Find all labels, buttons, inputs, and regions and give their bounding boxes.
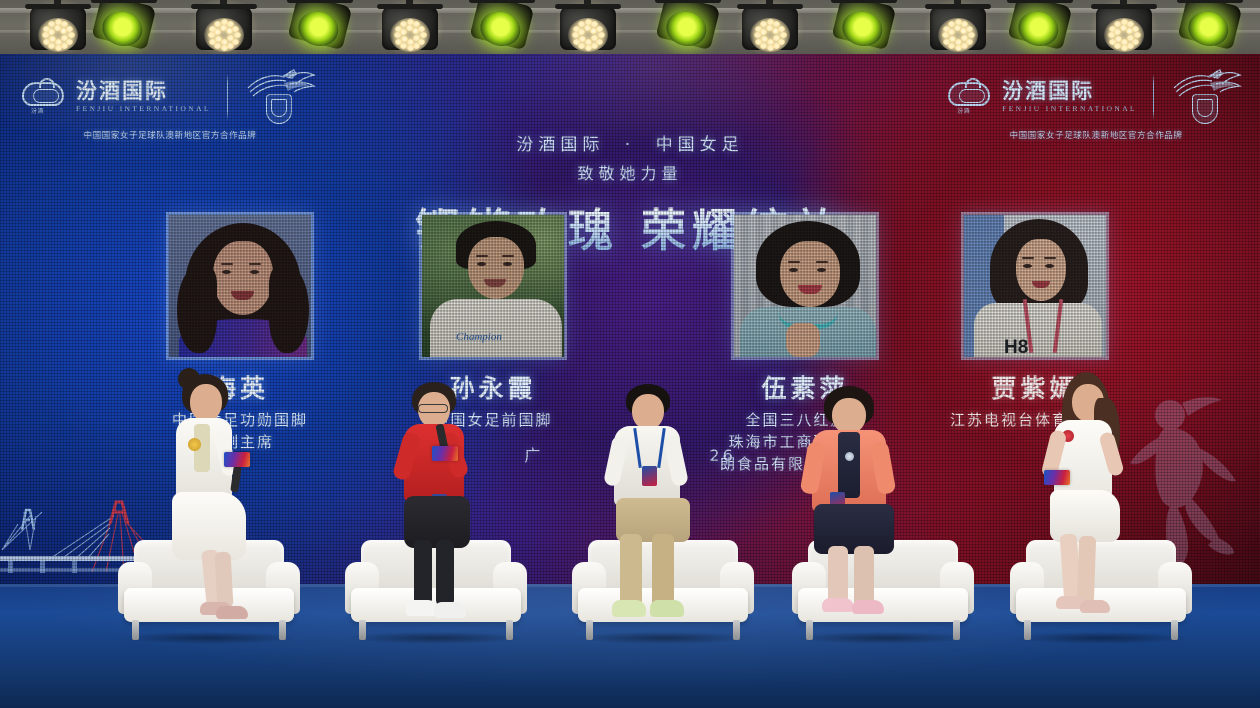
light-lens <box>99 7 146 50</box>
fenjiu-cloud-icon: 汾酒 <box>22 80 64 114</box>
light-stem <box>584 0 591 5</box>
light-yoke <box>469 0 535 3</box>
light-lens <box>839 7 886 50</box>
light-lens <box>390 18 430 52</box>
led-emitter <box>585 45 592 51</box>
event-kicker-line2: 致敬她力量 <box>0 160 1260 184</box>
brand-divider <box>227 74 228 120</box>
light-housing <box>560 6 616 50</box>
led-emitter <box>68 32 75 38</box>
honoree-photo-1 <box>166 212 314 360</box>
brand-name-en: FENJIU INTERNATIONAL <box>1002 105 1137 113</box>
led-emitter <box>227 35 234 41</box>
led-emitter <box>227 43 234 49</box>
fenjiu-cloud-icon: 汾酒 <box>948 80 990 114</box>
panelist-3 <box>600 384 730 644</box>
light-lens <box>938 18 978 52</box>
light-housing <box>930 6 986 50</box>
light-yoke <box>1007 0 1073 3</box>
led-emitter <box>61 43 68 49</box>
led-emitter <box>772 28 779 34</box>
light-yoke <box>655 0 721 3</box>
led-emitter <box>960 28 967 34</box>
light-stem <box>1120 0 1127 5</box>
led-emitter <box>773 35 780 41</box>
ceiling-truss <box>0 0 1260 56</box>
led-emitter <box>948 43 955 49</box>
truss-bar <box>0 8 1260 13</box>
led-emitter <box>773 43 780 49</box>
led-emitter <box>1134 32 1141 38</box>
honoree-photo-3 <box>731 212 879 360</box>
led-emitter <box>226 28 233 34</box>
led-emitter <box>767 45 774 51</box>
led-emitter <box>420 32 427 38</box>
led-emitter <box>1114 43 1121 49</box>
brand-name-cn: 汾酒国际 <box>1002 81 1137 102</box>
light-housing <box>470 0 535 50</box>
led-emitter <box>60 28 67 34</box>
led-emitter <box>1127 35 1134 41</box>
light-housing <box>832 0 897 50</box>
led-emitter <box>407 45 414 51</box>
light-yoke <box>831 0 897 3</box>
light-stem <box>954 0 961 5</box>
led-emitter <box>214 29 221 35</box>
light-lens <box>204 18 244 52</box>
led-emitter <box>61 35 68 41</box>
led-emitter <box>578 43 585 49</box>
light-lens <box>38 18 78 52</box>
light-yoke <box>91 0 157 3</box>
led-emitter <box>221 45 228 51</box>
light-housing <box>382 6 438 50</box>
light-yoke <box>287 0 353 3</box>
event-kicker-line1: 汾酒国际 · 中国女足 <box>0 130 1260 155</box>
truss-bar <box>0 30 1260 33</box>
eyeglasses-icon <box>418 404 448 413</box>
footer-text-left: 广 <box>524 446 543 465</box>
light-lens <box>750 18 790 52</box>
badge-card-3 <box>642 466 657 486</box>
light-stem <box>406 0 413 5</box>
light-housing <box>1008 0 1073 50</box>
light-lens <box>1104 18 1144 52</box>
light-housing <box>288 0 353 50</box>
led-emitter <box>961 35 968 41</box>
brand-name-en: FENJIU INTERNATIONAL <box>76 105 211 113</box>
light-lens <box>295 7 342 50</box>
brand-divider <box>1153 74 1154 120</box>
led-emitter <box>1126 28 1133 34</box>
light-housing <box>1096 6 1152 50</box>
light-stem <box>766 0 773 5</box>
microphone-flag-5 <box>1044 470 1070 485</box>
panelist-2 <box>390 382 510 644</box>
light-stem <box>54 0 61 5</box>
led-emitter <box>591 35 598 41</box>
led-emitter <box>760 43 767 49</box>
led-emitter <box>968 32 975 38</box>
fenjiu-mark-label: 汾酒 <box>31 106 44 115</box>
fenjiu-mark-label: 汾酒 <box>957 106 970 115</box>
led-emitter <box>400 43 407 49</box>
led-emitter <box>961 43 968 49</box>
led-emitter <box>590 28 597 34</box>
light-lens <box>1015 7 1062 50</box>
light-yoke <box>1177 0 1243 3</box>
led-emitter <box>413 43 420 49</box>
microphone-flag-2 <box>432 446 458 461</box>
microphone-flag-1 <box>224 452 250 467</box>
led-emitter <box>400 29 407 35</box>
led-emitter <box>598 32 605 38</box>
cfa-phoenix-crest-icon <box>1170 72 1244 122</box>
light-lens <box>663 7 710 50</box>
light-stem <box>220 0 227 5</box>
led-emitter <box>780 32 787 38</box>
panelist-1 <box>160 374 280 644</box>
light-housing <box>656 0 721 50</box>
kicker-team: 中国女足 <box>656 135 744 155</box>
led-emitter <box>48 29 55 35</box>
light-housing <box>92 0 157 50</box>
light-housing <box>196 6 252 50</box>
led-emitter <box>591 43 598 49</box>
led-emitter <box>413 35 420 41</box>
honoree-photo-4: H8 <box>961 212 1109 360</box>
led-emitter <box>55 45 62 51</box>
light-housing <box>1178 0 1243 50</box>
led-emitter <box>1121 45 1128 51</box>
panelist-4 <box>800 386 930 644</box>
light-lens <box>477 7 524 50</box>
kicker-brand: 汾酒国际 <box>516 135 604 155</box>
led-emitter <box>1127 43 1134 49</box>
light-lens <box>568 18 608 52</box>
brand-name-cn: 汾酒国际 <box>76 81 211 102</box>
led-emitter <box>760 29 767 35</box>
led-emitter <box>48 43 55 49</box>
light-housing <box>30 6 86 50</box>
led-emitter <box>234 32 241 38</box>
led-emitter <box>1114 29 1121 35</box>
light-lens <box>1185 7 1232 50</box>
led-emitter <box>412 28 419 34</box>
led-emitter <box>578 29 585 35</box>
photo-scene: 汾酒 汾酒国际 FENJIU INTERNATIONAL <box>0 0 1260 708</box>
cfa-phoenix-crest-icon <box>244 72 318 122</box>
led-emitter <box>948 29 955 35</box>
pendant-necklace <box>845 452 854 461</box>
led-emitter <box>955 45 962 51</box>
panelist-5 <box>1028 374 1158 644</box>
led-emitter <box>214 43 221 49</box>
gold-flower-brooch <box>188 438 201 451</box>
kicker-dot: · <box>625 135 635 155</box>
light-housing <box>742 6 798 50</box>
honoree-photo-2: Champion <box>419 212 567 360</box>
